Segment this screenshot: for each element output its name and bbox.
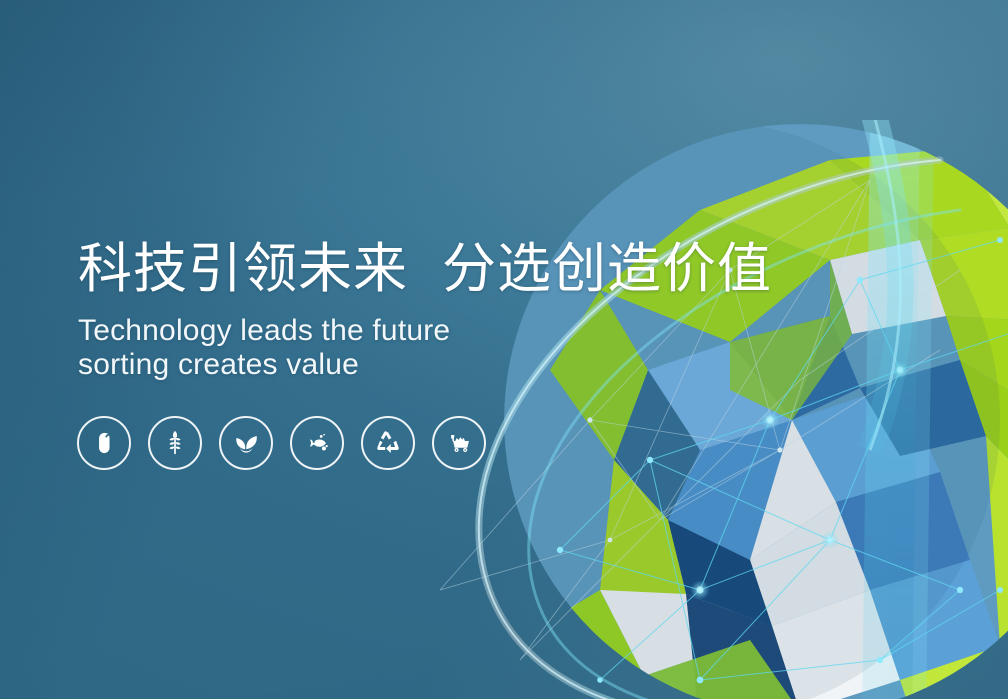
page-title: 科技引领未来分选创造价值 [78, 236, 778, 302]
subtitle-line-1: Technology leads the future [78, 314, 778, 348]
banner-hero: 科技引领未来分选创造价值 Technology leads the future… [0, 0, 1008, 699]
icon-badge-ore-cart[interactable] [432, 416, 486, 470]
headline-primary: 科技引领未来 [78, 239, 408, 299]
recycle-icon [373, 428, 403, 458]
ore-cart-icon [444, 428, 474, 458]
icon-badge-wheat[interactable] [148, 416, 202, 470]
icon-badge-recycle[interactable] [361, 416, 415, 470]
icon-badge-grain[interactable] [77, 416, 131, 470]
fish-icon [302, 428, 332, 458]
headline-secondary: 分选创造价值 [442, 239, 772, 299]
subtitle-line-2: sorting creates value [78, 348, 778, 382]
icon-badge-leaf[interactable] [219, 416, 273, 470]
leaf-icon [231, 428, 261, 458]
grain-icon [89, 428, 119, 458]
hero-copy: 科技引领未来分选创造价值 Technology leads the future… [78, 236, 778, 382]
wheat-icon [160, 428, 190, 458]
industry-icon-row [77, 416, 486, 470]
icon-badge-fish[interactable] [290, 416, 344, 470]
hero-subtitle: Technology leads the future sorting crea… [78, 314, 778, 382]
